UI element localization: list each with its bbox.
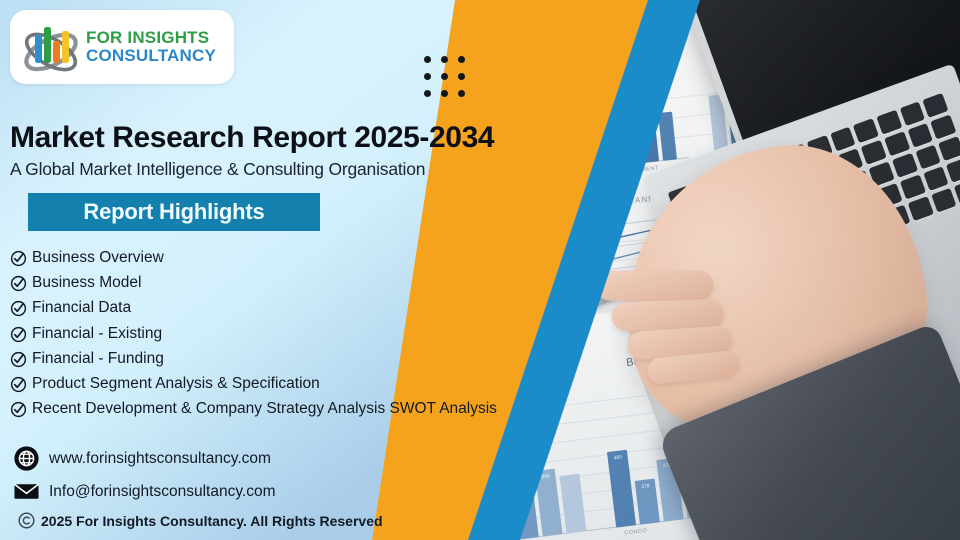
report-banner: APARTMENT HOUSE ANNUAL SUMMARY (0, 0, 960, 540)
list-item: Financial - Funding (10, 351, 510, 368)
logo-line-1: FOR INSIGHTS (86, 29, 216, 47)
list-item: Business Overview (10, 250, 510, 267)
list-item-label: Business Model (32, 275, 141, 291)
email-address: Info@forinsightsconsultancy.com (49, 483, 276, 501)
check-circle-icon (10, 351, 27, 368)
bar-chart-globe-logo-icon (20, 18, 82, 76)
page-title: Market Research Report 2025-2034 (10, 121, 494, 155)
list-item-label: Financial - Funding (32, 351, 164, 367)
logo-line-2: CONSULTANCY (86, 47, 216, 65)
globe-icon (14, 446, 39, 471)
list-item: Financial Data (10, 300, 510, 317)
list-item: Recent Development & Company Strategy An… (10, 401, 510, 418)
contact-block: www.forinsightsconsultancy.com Info@fori… (14, 446, 383, 529)
check-circle-icon (10, 326, 27, 343)
list-item-label: Financial Data (32, 300, 131, 316)
check-circle-icon (10, 275, 27, 292)
envelope-icon (14, 479, 39, 504)
report-highlights-label: Report Highlights (83, 199, 264, 225)
list-item-label: Recent Development & Company Strategy An… (32, 401, 497, 417)
list-item-label: Product Segment Analysis & Specification (32, 376, 320, 392)
company-logo-card[interactable]: FOR INSIGHTS CONSULTANCY (10, 10, 234, 84)
dot-grid-decoration-icon (424, 56, 465, 97)
list-item: Financial - Existing (10, 326, 510, 343)
highlights-list: Business Overview Business Model Financi… (10, 250, 510, 426)
list-item: Business Model (10, 275, 510, 292)
list-item-label: Business Overview (32, 250, 164, 266)
copyright-text: 2025 For Insights Consultancy. All Right… (41, 513, 383, 529)
list-item-label: Financial - Existing (32, 326, 162, 342)
website-url: www.forinsightsconsultancy.com (49, 450, 271, 468)
report-highlights-chip: Report Highlights (28, 193, 320, 231)
email-row[interactable]: Info@forinsightsconsultancy.com (14, 479, 383, 504)
copyright-icon (18, 512, 35, 529)
check-circle-icon (10, 300, 27, 317)
check-circle-icon (10, 401, 27, 418)
website-row[interactable]: www.forinsightsconsultancy.com (14, 446, 383, 471)
page-subtitle: A Global Market Intelligence & Consultin… (10, 159, 425, 180)
check-circle-icon (10, 250, 27, 267)
list-item: Product Segment Analysis & Specification (10, 376, 510, 393)
copyright-row: 2025 For Insights Consultancy. All Right… (18, 512, 383, 529)
check-circle-icon (10, 376, 27, 393)
